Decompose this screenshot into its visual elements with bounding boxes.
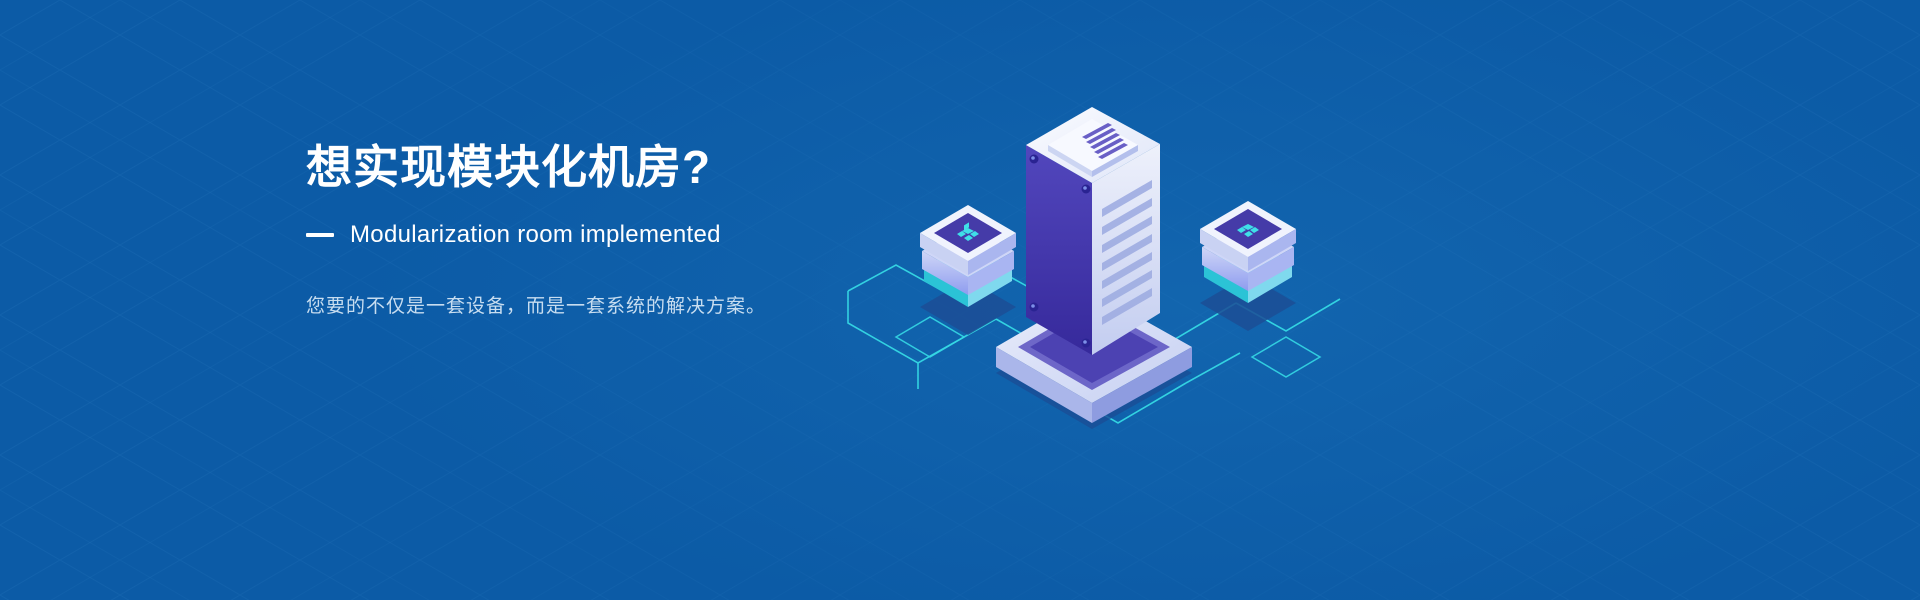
chip-module-right (1200, 201, 1296, 303)
divider-dash-icon (306, 233, 334, 237)
server-tower (996, 107, 1192, 423)
chip-module-left (920, 205, 1016, 307)
page-subtitle: Modularization room implemented (350, 221, 721, 249)
server-illustration (800, 55, 1360, 455)
hero-banner: 想实现模块化机房? Modularization room implemente… (0, 0, 1920, 600)
